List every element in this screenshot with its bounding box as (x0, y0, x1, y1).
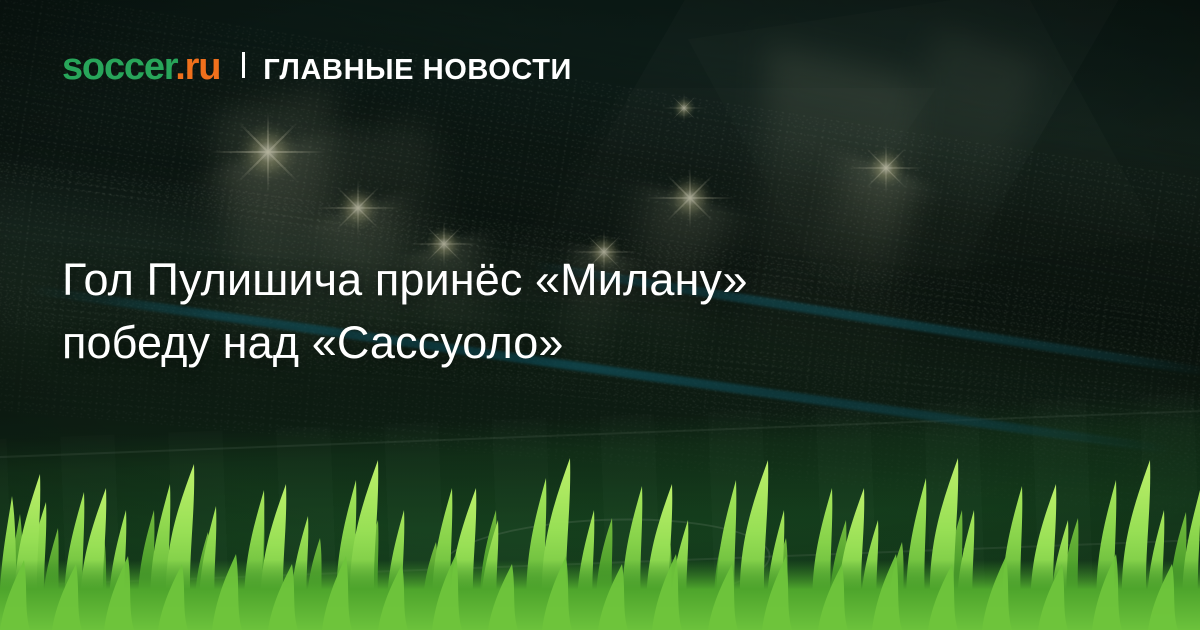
logo-tld: .ru (175, 46, 220, 88)
headline-line-1: Гол Пулишича принёс «Милану» (62, 248, 1062, 311)
header-divider (242, 52, 245, 78)
page-title: Гол Пулишича принёс «Милану» победу над … (62, 248, 1062, 374)
soccer-ru-logo[interactable]: soccer.ru (62, 48, 220, 86)
logo-word: soccer (62, 46, 175, 88)
headline-line-2: победу над «Сассуоло» (62, 311, 1062, 374)
grass-foreground (0, 440, 1200, 630)
news-share-card: soccer.ru ГЛАВНЫЕ НОВОСТИ Гол Пулишича п… (0, 0, 1200, 630)
brand-header: soccer.ru ГЛАВНЫЕ НОВОСТИ (62, 48, 572, 86)
header-kicker: ГЛАВНЫЕ НОВОСТИ (263, 56, 572, 85)
